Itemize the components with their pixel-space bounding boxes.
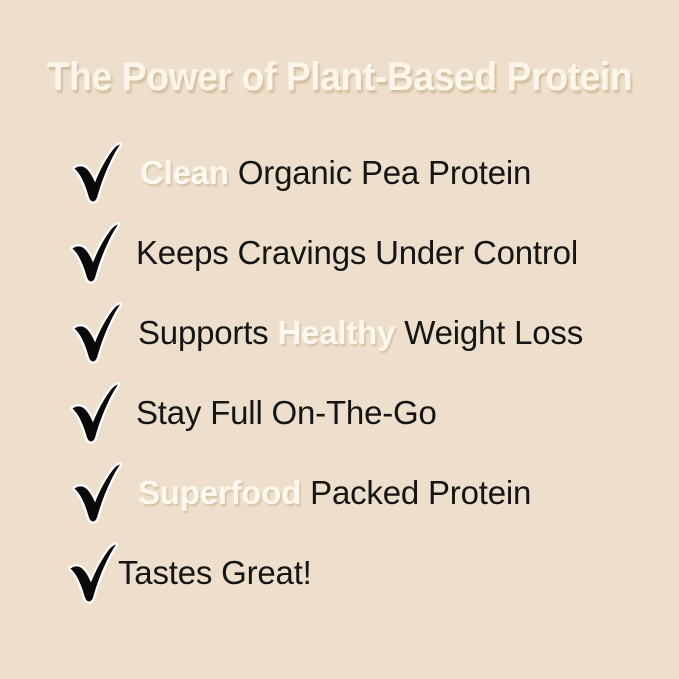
benefit-label: Stay Full On-The-Go (136, 395, 437, 431)
benefit-rest: Tastes Great! (118, 554, 312, 591)
benefit-rest: Weight Loss (395, 314, 583, 351)
benefit-rest: Keeps Cravings Under Control (136, 234, 578, 271)
list-item: Keeps Cravings Under Control (0, 213, 679, 293)
plant-based-protein-poster: The Power of Plant-Based Protein Clean O… (0, 0, 679, 679)
list-item: Superfood Packed Protein (0, 453, 679, 533)
benefit-label: Tastes Great! (118, 555, 312, 591)
list-item: Clean Organic Pea Protein (0, 133, 679, 213)
page-title: The Power of Plant-Based Protein (24, 50, 655, 104)
benefit-rest: Packed Protein (301, 474, 531, 511)
benefit-list: Clean Organic Pea Protein Keeps Cravings… (0, 133, 679, 613)
list-item: Stay Full On-The-Go (0, 373, 679, 453)
benefit-rest: Stay Full On-The-Go (136, 394, 437, 431)
highlight-word: Clean (140, 154, 229, 191)
benefit-before: Supports (138, 314, 277, 351)
benefit-label: Superfood Packed Protein (138, 475, 531, 511)
list-item: Supports Healthy Weight Loss (0, 293, 679, 373)
benefit-label: Supports Healthy Weight Loss (138, 315, 583, 351)
checkmark-icon (70, 462, 124, 524)
benefit-label: Clean Organic Pea Protein (140, 155, 531, 191)
checkmark-icon (68, 382, 122, 444)
highlight-word: Superfood (138, 474, 301, 511)
checkmark-icon (70, 302, 124, 364)
checkmark-icon (66, 542, 120, 604)
checkmark-icon (68, 222, 122, 284)
benefit-rest: Organic Pea Protein (229, 154, 531, 191)
benefit-label: Keeps Cravings Under Control (136, 235, 578, 271)
list-item: Tastes Great! (0, 533, 679, 613)
highlight-word: Healthy (277, 314, 395, 351)
checkmark-icon (70, 142, 124, 204)
